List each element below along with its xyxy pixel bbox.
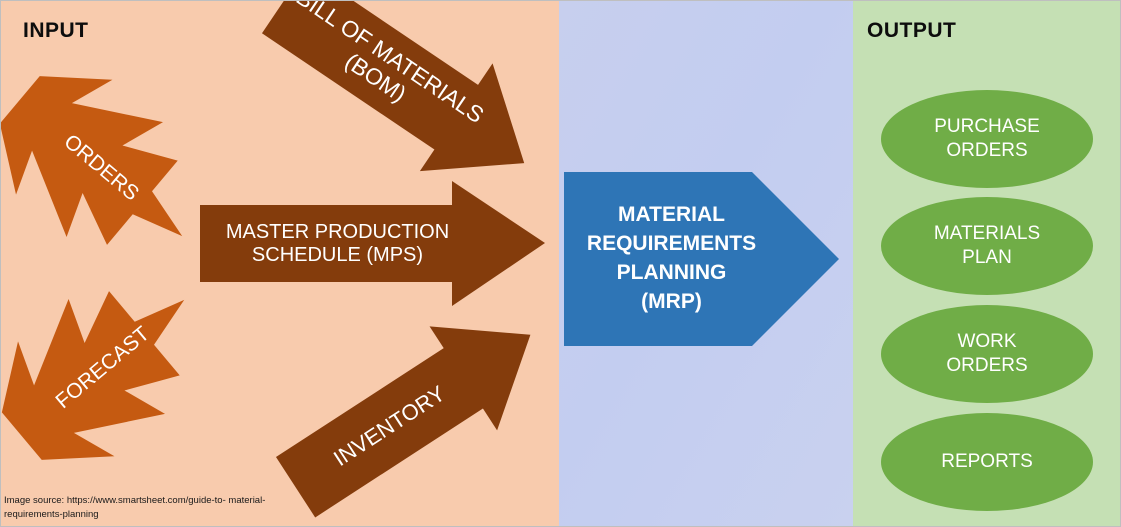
- output-item-0-line-0: PURCHASE: [934, 115, 1040, 139]
- output-item-materials-plan[interactable]: MATERIALS PLAN: [881, 197, 1093, 295]
- mrp-diagram: INPUT OUTPUT ORDERS FORECAST BILL OF MAT…: [0, 0, 1121, 527]
- output-item-work-orders[interactable]: WORK ORDERS: [881, 305, 1093, 403]
- output-item-1-line-0: MATERIALS: [934, 222, 1040, 246]
- arrow-mrp-line-1: REQUIREMENTS: [587, 230, 756, 259]
- arrow-mrp-line-2: PLANNING: [617, 259, 727, 288]
- caption-line-1: Image source: https://www.smartsheet.com…: [4, 495, 226, 506]
- output-item-1-line-1: PLAN: [962, 246, 1012, 270]
- output-item-reports[interactable]: REPORTS: [881, 413, 1093, 511]
- arrow-material-requirements-planning[interactable]: MATERIAL REQUIREMENTS PLANNING (MRP): [564, 172, 839, 346]
- output-item-0-line-1: ORDERS: [946, 139, 1027, 163]
- output-label: OUTPUT: [867, 19, 956, 43]
- image-source-caption: Image source: https://www.smartsheet.com…: [4, 494, 294, 522]
- input-label: INPUT: [23, 19, 89, 43]
- output-item-2-line-1: ORDERS: [946, 354, 1027, 378]
- output-item-purchase-orders[interactable]: PURCHASE ORDERS: [881, 90, 1093, 188]
- arrow-mrp-text: MATERIAL REQUIREMENTS PLANNING (MRP): [564, 172, 779, 346]
- arrow-mrp-line-0: MATERIAL: [618, 201, 725, 230]
- output-item-2-line-0: WORK: [957, 330, 1016, 354]
- arrow-mrp-line-3: (MRP): [641, 288, 702, 317]
- output-item-3-line-0: REPORTS: [941, 450, 1033, 474]
